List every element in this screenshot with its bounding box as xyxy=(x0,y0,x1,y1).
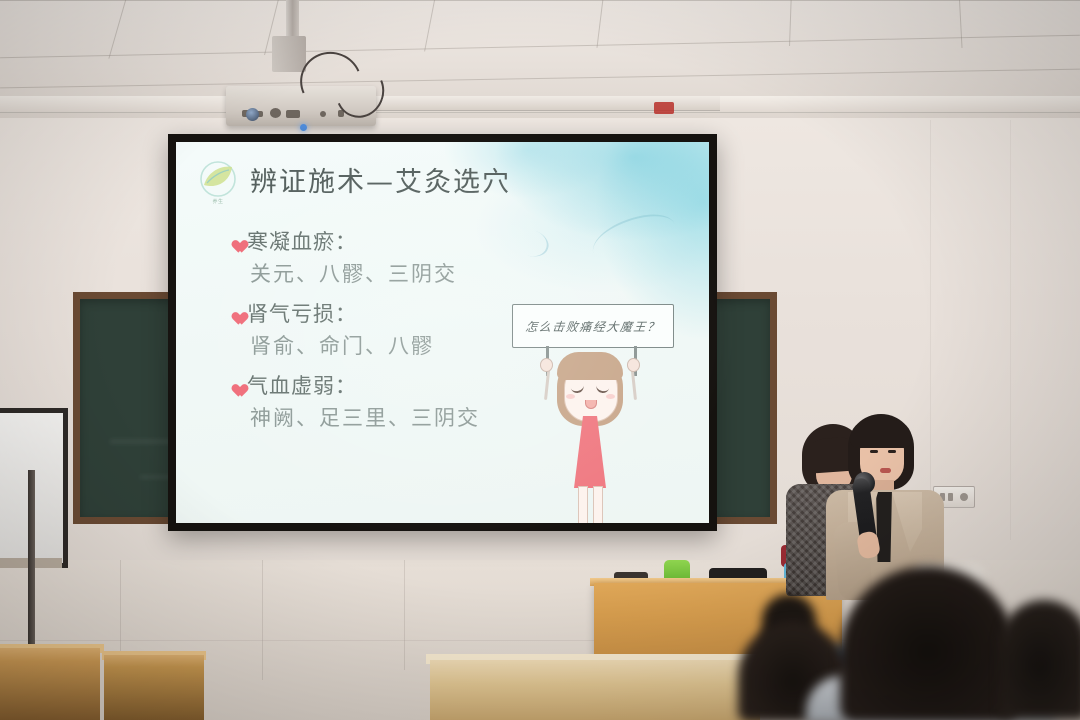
heart-bullet-icon xyxy=(228,306,244,321)
cartoon-hand xyxy=(540,358,553,372)
projector-mount-arm xyxy=(272,36,306,72)
cartoon-hand xyxy=(627,358,640,372)
student-desk xyxy=(0,648,100,720)
projection-screen-frame: 养生 辨证施术—艾灸选穴 寒凝血瘀： 关元、八髎、三阴交 肾气亏损： 肾俞、命门… xyxy=(168,134,717,531)
speaker-bangs xyxy=(850,420,912,448)
bullet-heading-label: 肾气亏损： xyxy=(247,298,357,328)
power-led xyxy=(300,124,307,131)
screen-mount-bracket xyxy=(654,102,674,114)
heart-bullet-icon xyxy=(228,234,244,249)
cartoon-blush xyxy=(566,394,575,399)
brand-leaf-icon xyxy=(198,159,238,203)
cartoon-sign: 怎么击败痛经大魔王？ xyxy=(512,304,674,348)
student-desk xyxy=(430,660,760,720)
speaker-lips xyxy=(880,468,891,473)
bullet-heading: 寒凝血瘀： xyxy=(228,226,558,256)
projector-port xyxy=(320,111,326,117)
wall-tile-line xyxy=(1010,120,1011,540)
brand-logo-text: 养生 xyxy=(194,198,242,205)
speaker-eye xyxy=(870,450,878,453)
cartoon-dress xyxy=(574,416,606,488)
bullet-heading-label: 寒凝血瘀： xyxy=(247,226,357,256)
classroom-scene: 养生 辨证施术—艾灸选穴 寒凝血瘀： 关元、八髎、三阴交 肾气亏损： 肾俞、命门… xyxy=(0,0,1080,720)
watercolor-stroke xyxy=(587,208,681,270)
bullet-heading-label: 气血虚弱： xyxy=(247,370,357,400)
slide-title: 辨证施术—艾灸选穴 xyxy=(250,160,511,199)
projector-port xyxy=(286,110,300,118)
wall-tile-line xyxy=(262,560,263,680)
cartoon-leg xyxy=(578,486,588,523)
projector-port xyxy=(270,108,281,118)
seated-student xyxy=(1000,600,1080,720)
bullet-points: 关元、八髎、三阴交 xyxy=(250,258,558,288)
cartoon-leg xyxy=(593,486,603,523)
presentation-slide: 养生 辨证施术—艾灸选穴 寒凝血瘀： 关元、八髎、三阴交 肾气亏损： 肾俞、命门… xyxy=(176,142,709,523)
projection-screen: 养生 辨证施术—艾灸选穴 寒凝血瘀： 关元、八髎、三阴交 肾气亏损： 肾俞、命门… xyxy=(176,142,709,523)
socket-hole xyxy=(948,493,953,501)
projector-lens xyxy=(246,108,259,121)
projector-pole-mount xyxy=(286,0,299,40)
heart-bullet-icon xyxy=(228,378,244,393)
student-desk xyxy=(104,655,204,720)
cartoon-sign-text: 怎么击败痛经大魔王？ xyxy=(511,305,675,347)
cartoon-bangs xyxy=(557,352,623,380)
wall-tile-line xyxy=(404,560,405,670)
socket-hole xyxy=(960,493,968,501)
cartoon-girl-holding-sign: 怎么击败痛经大魔王？ xyxy=(494,304,684,509)
cartoon-blush xyxy=(606,394,615,399)
speaker-eye xyxy=(888,450,896,453)
ceiling-grid-line xyxy=(0,0,1080,1)
